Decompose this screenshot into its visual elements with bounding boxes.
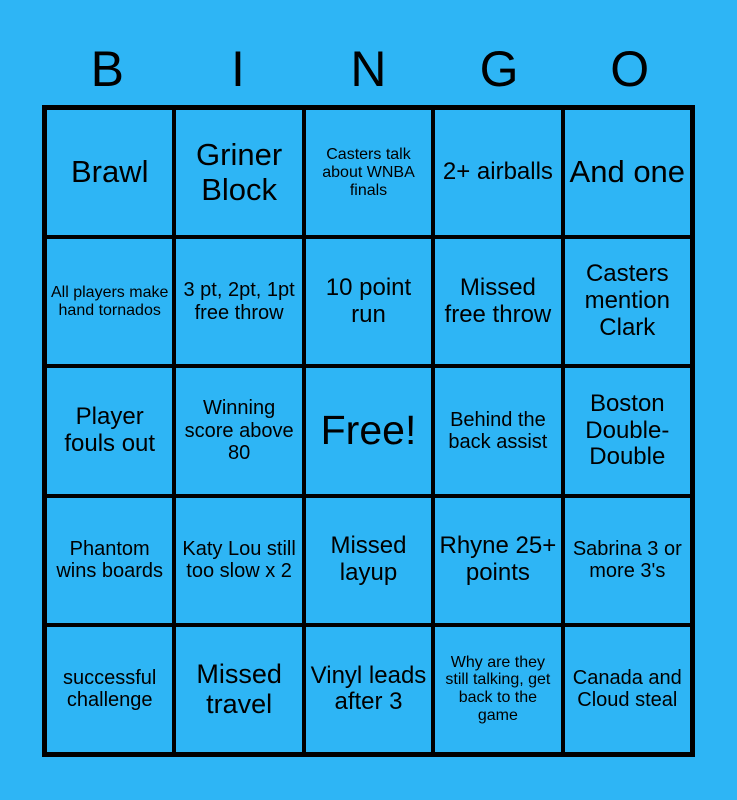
bingo-cell-label: 10 point run	[310, 275, 427, 329]
bingo-cell[interactable]: Casters mention Clark	[565, 239, 690, 364]
bingo-cell-label: 3 pt, 2pt, 1pt free throw	[180, 279, 297, 324]
bingo-cell-label: Vinyl leads after 3	[310, 663, 427, 717]
bingo-cell[interactable]: Brawl	[47, 110, 172, 235]
bingo-cell-label: All players make hand tornados	[51, 284, 168, 320]
bingo-cell-label: Winning score above 80	[180, 397, 297, 464]
header-letter-o: O	[564, 36, 695, 102]
bingo-cell-label: Boston Double-Double	[569, 391, 686, 472]
bingo-cell-label: Casters mention Clark	[569, 261, 686, 342]
bingo-cell-label: Katy Lou still too slow x 2	[180, 538, 297, 583]
bingo-cell-label: Missed travel	[180, 659, 297, 719]
bingo-cell[interactable]: Katy Lou still too slow x 2	[176, 498, 301, 623]
bingo-cell[interactable]: Phantom wins boards	[47, 498, 172, 623]
header-letter-n: N	[303, 36, 434, 102]
bingo-cell[interactable]: Why are they still talking, get back to …	[435, 627, 560, 752]
bingo-cell[interactable]: Missed layup	[306, 498, 431, 623]
bingo-cell-label: 2+ airballs	[439, 159, 556, 186]
bingo-cell[interactable]: Behind the back assist	[435, 368, 560, 493]
bingo-cell[interactable]: All players make hand tornados	[47, 239, 172, 364]
bingo-header: B I N G O	[42, 36, 695, 102]
bingo-cell-label: Sabrina 3 or more 3's	[569, 538, 686, 583]
header-letter-g: G	[434, 36, 565, 102]
bingo-cell[interactable]: Griner Block	[176, 110, 301, 235]
bingo-cell-label: Rhyne 25+ points	[439, 533, 556, 587]
bingo-cell[interactable]: 10 point run	[306, 239, 431, 364]
bingo-grid: Brawl Griner Block Casters talk about WN…	[42, 105, 695, 757]
bingo-cell-label: Phantom wins boards	[51, 538, 168, 583]
bingo-cell-label: Missed free throw	[439, 275, 556, 329]
bingo-cell-label: Canada and Cloud steal	[569, 667, 686, 712]
bingo-cell[interactable]: 3 pt, 2pt, 1pt free throw	[176, 239, 301, 364]
bingo-cell[interactable]: Sabrina 3 or more 3's	[565, 498, 690, 623]
bingo-cell[interactable]: 2+ airballs	[435, 110, 560, 235]
bingo-cell[interactable]: Casters talk about WNBA finals	[306, 110, 431, 235]
bingo-cell-label: successful challenge	[51, 667, 168, 712]
header-letter-b: B	[42, 36, 173, 102]
bingo-cell[interactable]: Vinyl leads after 3	[306, 627, 431, 752]
bingo-cell[interactable]: Winning score above 80	[176, 368, 301, 493]
bingo-cell-label: Griner Block	[180, 138, 297, 207]
bingo-cell-label: Why are they still talking, get back to …	[439, 654, 556, 726]
bingo-cell-label: Casters talk about WNBA finals	[310, 146, 427, 200]
bingo-free-label: Free!	[310, 408, 427, 454]
bingo-cell[interactable]: Canada and Cloud steal	[565, 627, 690, 752]
bingo-cell-label: Player fouls out	[51, 404, 168, 458]
bingo-cell-label: Behind the back assist	[439, 409, 556, 454]
bingo-cell[interactable]: Missed travel	[176, 627, 301, 752]
header-letter-i: I	[173, 36, 304, 102]
bingo-cell[interactable]: Missed free throw	[435, 239, 560, 364]
bingo-cell-label: Missed layup	[310, 533, 427, 587]
bingo-cell-label: And one	[569, 155, 686, 190]
bingo-cell-free[interactable]: Free!	[306, 368, 431, 493]
bingo-cell[interactable]: successful challenge	[47, 627, 172, 752]
bingo-card: B I N G O Brawl Griner Block Casters tal…	[0, 0, 737, 800]
bingo-cell-label: Brawl	[51, 155, 168, 190]
bingo-cell[interactable]: Boston Double-Double	[565, 368, 690, 493]
bingo-cell[interactable]: Player fouls out	[47, 368, 172, 493]
bingo-cell[interactable]: And one	[565, 110, 690, 235]
bingo-cell[interactable]: Rhyne 25+ points	[435, 498, 560, 623]
